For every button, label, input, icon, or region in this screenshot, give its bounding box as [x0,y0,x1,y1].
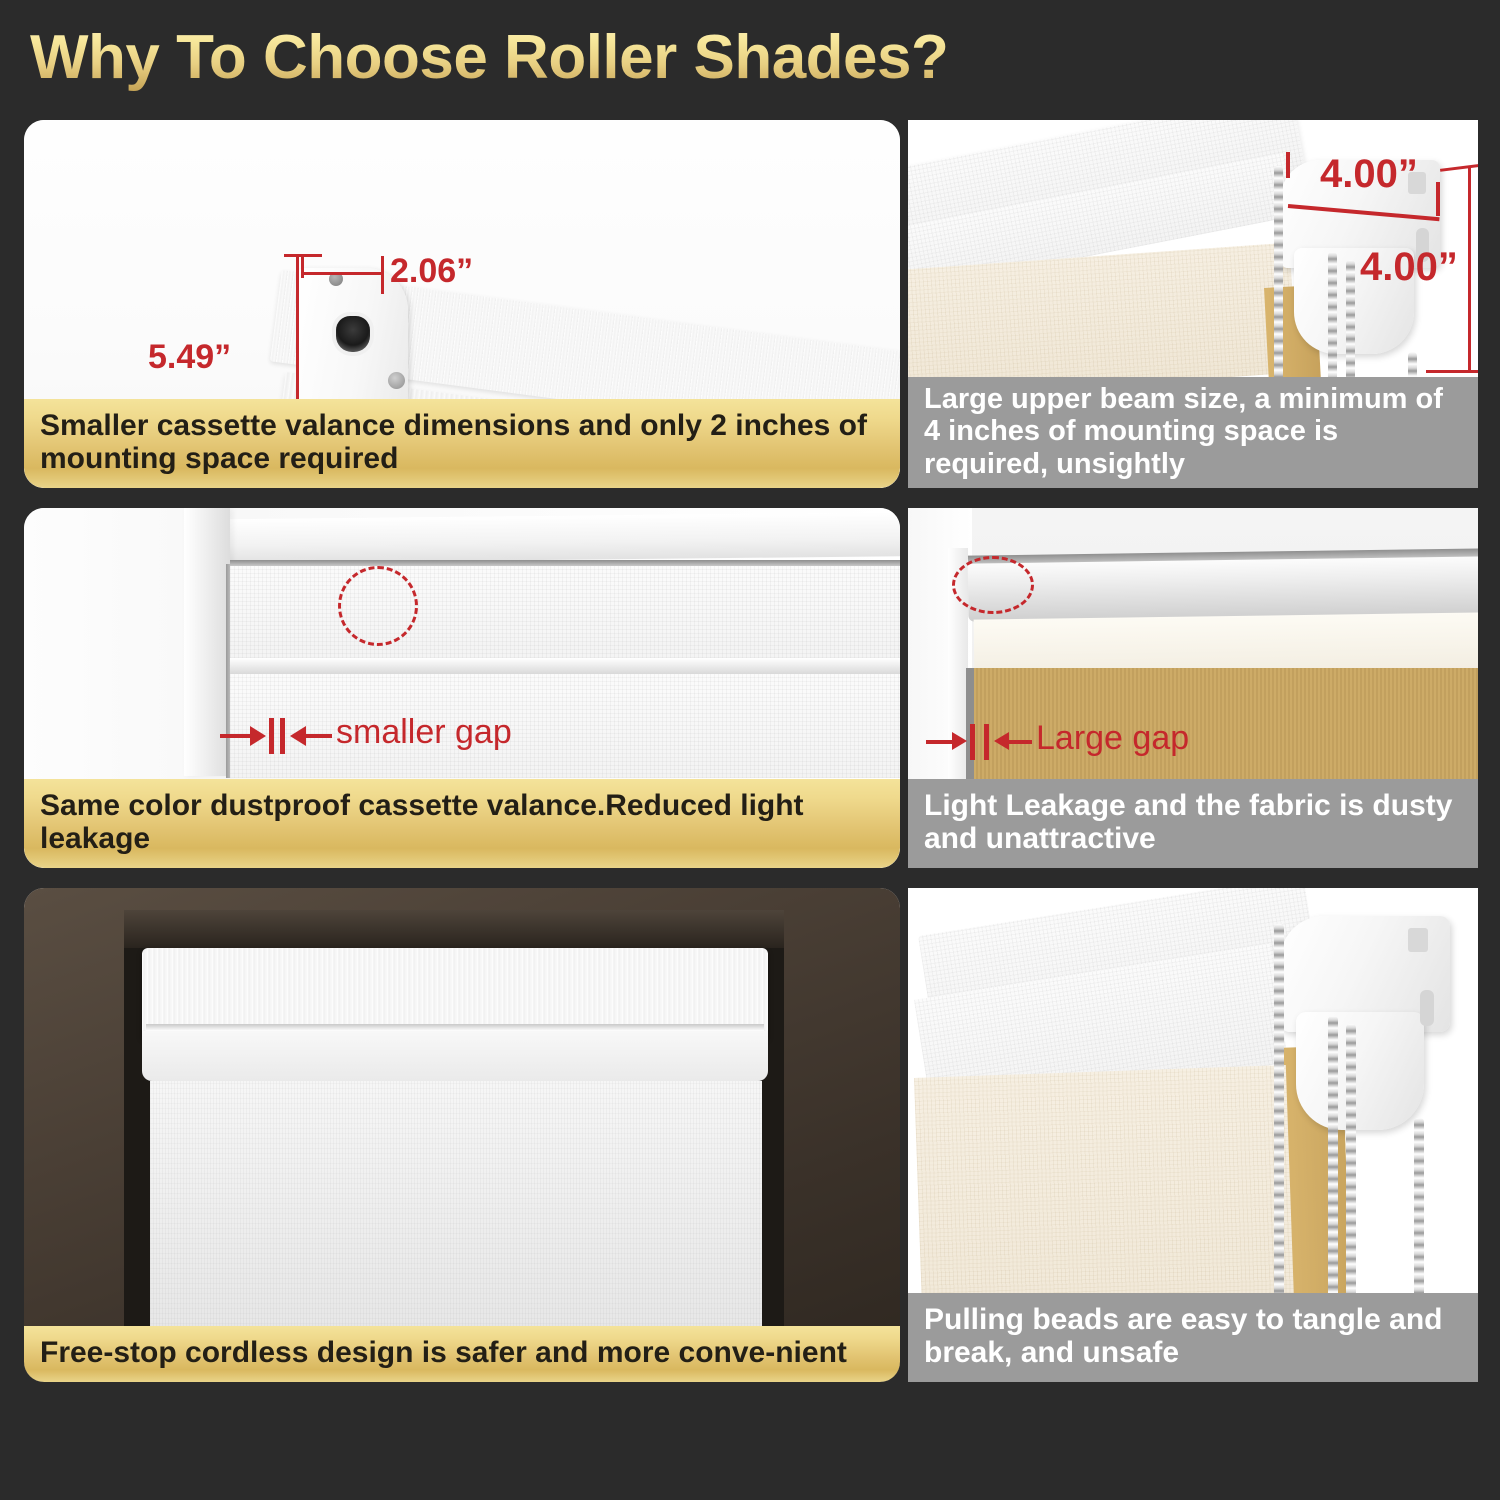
panel-dustproof-valance: smaller gap Same color dustproof cassett… [24,508,900,868]
beam-width-label: 4.00” [1320,152,1418,197]
panel-cassette-dimensions: 2.06” 5.49” Smaller cassette valance dim… [24,120,900,488]
cordless-window-photo [24,888,900,1382]
gap-arrow-right [994,732,1009,750]
gap-highlight-circle [338,566,418,646]
panel-caption: Pulling beads are easy to tangle and bre… [908,1293,1478,1382]
height-dim-tick-top [284,254,322,257]
beam-height-label: 4.00” [1360,245,1458,290]
width-dim-tick-left [301,256,304,278]
gap-arrow-left [250,726,266,746]
panel-light-leakage: Large gap Light Leakage and the fabric i… [908,508,1478,868]
panel-cordless-design: Free-stop cordless design is safer and m… [24,888,900,1382]
width-dim-line [302,272,384,275]
gap-highlight-circle [952,556,1034,614]
panel-caption: Large upper beam size, a minimum of 4 in… [908,377,1478,488]
smaller-gap-label: smaller gap [336,713,512,752]
page-title: Why To Choose Roller Shades? [30,18,1130,98]
gap-arrow-right [290,726,306,746]
panel-caption: Same color dustproof cassette valance.Re… [24,779,900,868]
panel-large-beam: 4.00” 4.00” Large upper beam size, a min… [908,120,1478,488]
infographic-root: Why To Choose Roller Shades? 2.06” 5.49”… [0,0,1500,1500]
height-dimension-label: 5.49” [148,338,231,377]
gap-arrow-left [952,732,967,750]
panel-caption: Free-stop cordless design is safer and m… [24,1326,900,1382]
large-gap-label: Large gap [1036,719,1189,758]
panel-caption: Light Leakage and the fabric is dusty an… [908,779,1478,868]
width-dimension-label: 2.06” [390,252,473,291]
panel-caption: Smaller cassette valance dimensions and … [24,399,900,488]
bead-chain [1274,166,1283,408]
panel-pulling-beads: Pulling beads are easy to tangle and bre… [908,888,1478,1382]
width-dim-tick-right [381,256,384,294]
